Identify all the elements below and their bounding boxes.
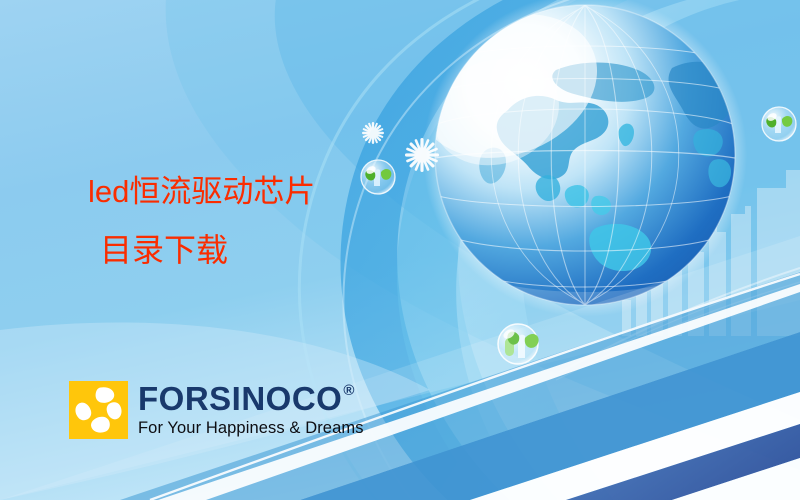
world-globe xyxy=(397,0,747,317)
logo-company-name: FORSINOCO® xyxy=(138,381,364,417)
slide-canvas: led恒流驱动芯片 目录下载 FORSINOCO® xyxy=(0,0,800,500)
headline-line-2: 目录下载 xyxy=(88,221,418,279)
forsinoco-pinwheel-icon xyxy=(69,381,128,439)
bubble-sprout-right xyxy=(762,107,796,141)
sparkle-star-small xyxy=(362,122,384,144)
logo-wordmark-block: FORSINOCO® For Your Happiness & Dreams xyxy=(138,381,364,438)
bubble-sprout-lower xyxy=(498,324,539,364)
logo-tagline: For Your Happiness & Dreams xyxy=(138,418,364,438)
headline-text-block: led恒流驱动芯片 目录下载 xyxy=(88,163,418,279)
company-logo-lockup: FORSINOCO® For Your Happiness & Dreams xyxy=(69,381,364,439)
headline-line-1: led恒流驱动芯片 xyxy=(88,163,418,221)
city-skyline-silhouette xyxy=(622,170,800,336)
registered-trademark-icon: ® xyxy=(343,383,355,398)
logo-company-name-text: FORSINOCO xyxy=(138,381,342,417)
